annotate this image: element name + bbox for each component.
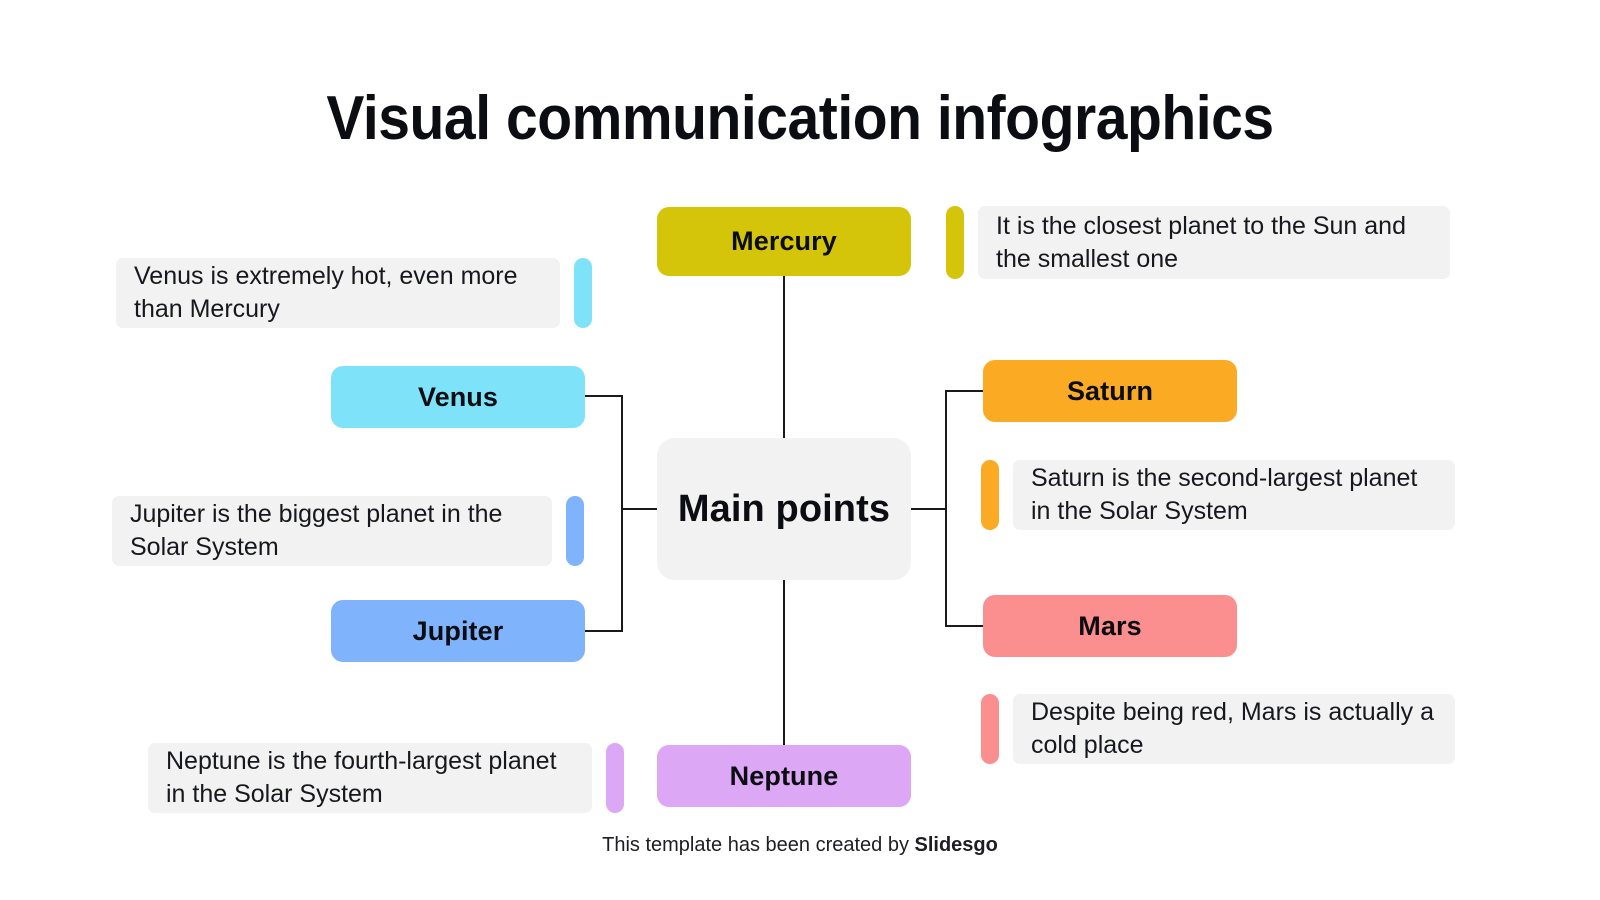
accent-bar-neptune-icon: [606, 743, 624, 813]
node-venus[interactable]: Venus: [331, 366, 585, 428]
description-mars-panel: Despite being red, Mars is actually a co…: [1013, 694, 1455, 764]
wire-left-bracket: [585, 396, 622, 631]
infographic-slide: Visual communication infographics Mercur…: [0, 0, 1600, 900]
footer-brand: Slidesgo: [915, 834, 998, 856]
description-jupiter-text: Jupiter is the biggest planet in the Sol…: [130, 498, 536, 564]
footer-credit: This template has been created by Slides…: [0, 832, 1600, 858]
accent-bar-venus-icon: [574, 258, 592, 328]
description-venus: Venus is extremely hot, even more than M…: [116, 258, 592, 328]
description-neptune-panel: Neptune is the fourth-largest planet in …: [148, 743, 592, 813]
accent-bar-jupiter-icon: [566, 496, 584, 566]
node-jupiter-label: Jupiter: [413, 616, 504, 647]
accent-bar-mercury-icon: [946, 206, 964, 279]
description-saturn-panel: Saturn is the second-largest planet in t…: [1013, 460, 1455, 530]
description-mars: Despite being red, Mars is actually a co…: [981, 694, 1455, 764]
description-mercury: It is the closest planet to the Sun and …: [946, 206, 1450, 279]
node-venus-label: Venus: [418, 382, 498, 413]
description-jupiter-panel: Jupiter is the biggest planet in the Sol…: [112, 496, 552, 566]
node-main-points[interactable]: Main points: [657, 438, 911, 580]
node-saturn[interactable]: Saturn: [983, 360, 1237, 422]
description-mercury-text: It is the closest planet to the Sun and …: [996, 210, 1434, 276]
footer-prefix: This template has been created by: [602, 834, 914, 856]
page-title: Visual communication infographics: [64, 84, 1536, 154]
accent-bar-mars-icon: [981, 694, 999, 764]
node-saturn-label: Saturn: [1067, 376, 1153, 407]
accent-bar-saturn-icon: [981, 460, 999, 530]
description-mercury-panel: It is the closest planet to the Sun and …: [978, 206, 1450, 279]
description-neptune-text: Neptune is the fourth-largest planet in …: [166, 745, 576, 811]
description-jupiter: Jupiter is the biggest planet in the Sol…: [112, 496, 584, 566]
node-main-points-label: Main points: [678, 488, 890, 531]
node-jupiter[interactable]: Jupiter: [331, 600, 585, 662]
node-mercury[interactable]: Mercury: [657, 207, 911, 276]
description-neptune: Neptune is the fourth-largest planet in …: [148, 743, 624, 813]
node-mercury-label: Mercury: [731, 226, 837, 257]
node-mars-label: Mars: [1078, 611, 1141, 642]
description-saturn: Saturn is the second-largest planet in t…: [981, 460, 1455, 530]
description-venus-text: Venus is extremely hot, even more than M…: [134, 260, 544, 326]
node-mars[interactable]: Mars: [983, 595, 1237, 657]
wire-right-bracket: [946, 391, 983, 626]
node-neptune[interactable]: Neptune: [657, 745, 911, 807]
description-mars-text: Despite being red, Mars is actually a co…: [1031, 696, 1439, 762]
description-saturn-text: Saturn is the second-largest planet in t…: [1031, 462, 1439, 528]
node-neptune-label: Neptune: [730, 761, 839, 792]
description-venus-panel: Venus is extremely hot, even more than M…: [116, 258, 560, 328]
